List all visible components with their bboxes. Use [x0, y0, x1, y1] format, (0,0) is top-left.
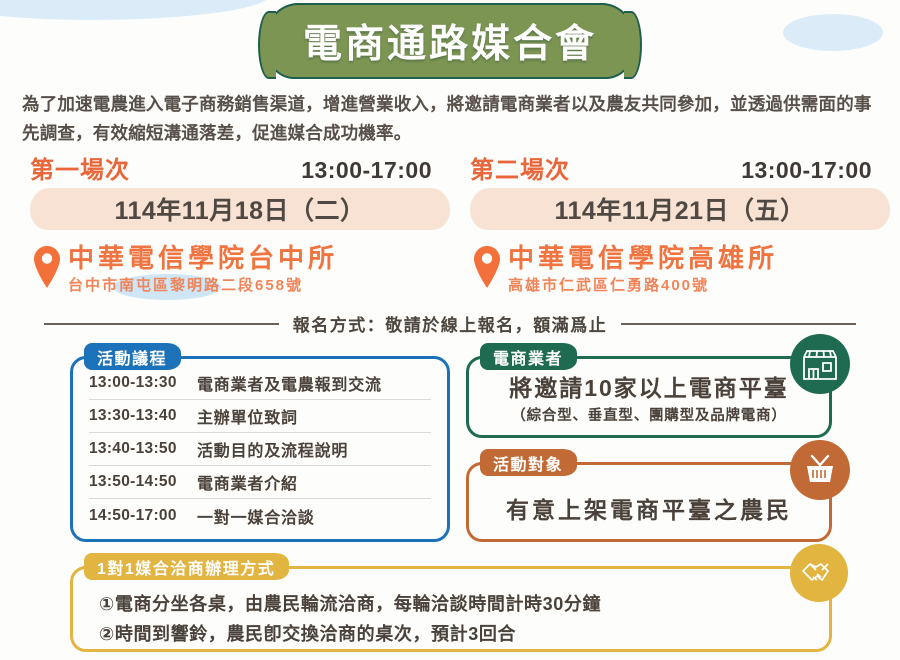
- cloud-decoration-top-left: [0, 0, 270, 20]
- table-row: 13:50-14:50 電商業者介紹: [89, 466, 431, 499]
- signup-divider-row: 報名方式：敬請於線上報名，額滿爲止: [44, 311, 856, 336]
- venue-1-text: 中華電信學院台中所 台中市南屯區黎明路二段658號: [62, 243, 338, 295]
- sellers-card: 將邀請10家以上電商平臺 （綜合型、垂直型、團購型及品牌電商） 電商業者: [466, 356, 832, 438]
- session-block-2: 第二場次 13:00-17:00 114年11月21日（五）: [470, 150, 890, 230]
- venue-block-1: 中華電信學院台中所 台中市南屯區黎明路二段658號: [32, 243, 462, 295]
- table-row: 14:50-17:00 一對一媒合洽談: [89, 499, 431, 532]
- matchmaking-line-2: ②時間到響鈴，農民卽交換洽商的桌次，預計3回合: [99, 619, 829, 649]
- map-pin-icon: [472, 245, 502, 294]
- session-1-label: 第一場次: [30, 150, 130, 185]
- venue-1-name: 中華電信學院台中所: [68, 243, 338, 273]
- audience-card: 有意上架電商平臺之農民 活動對象: [466, 462, 832, 542]
- matchmaking-card: ①電商分坐各桌，由農民輪流洽商，每輪洽談時間計時30分鐘 ②時間到響鈴，農民卽交…: [70, 566, 832, 652]
- agenda-item: 一對一媒合洽談: [197, 504, 315, 528]
- venue-block-2: 中華電信學院高雄所 高雄市仁武區仁勇路400號: [472, 243, 900, 295]
- handshake-icon: [790, 544, 848, 602]
- session-1-header: 第一場次 13:00-17:00: [30, 150, 450, 182]
- storefront-icon: [790, 334, 850, 394]
- session-2-time: 13:00-17:00: [741, 157, 890, 184]
- agenda-item: 主辦單位致詞: [197, 404, 298, 428]
- session-1-date-pill: 114年11月18日（二）: [30, 188, 450, 230]
- venue-2-text: 中華電信學院高雄所 高雄市仁武區仁勇路400號: [502, 243, 778, 295]
- title-banner: 電商通路媒合會: [264, 3, 636, 79]
- session-1-date: 114年11月18日（二）: [114, 191, 365, 227]
- session-2-date: 114年11月21日（五）: [554, 191, 805, 227]
- session-block-1: 第一場次 13:00-17:00 114年11月18日（二）: [30, 150, 450, 230]
- signup-instruction: 報名方式：敬請於線上報名，額滿爲止: [279, 311, 622, 336]
- venue-2-address: 高雄市仁武區仁勇路400號: [508, 276, 778, 295]
- venue-1-address: 台中市南屯區黎明路二段658號: [68, 276, 338, 295]
- sellers-tab-label: 電商業者: [480, 343, 577, 370]
- matchmaking-content: ①電商分坐各桌，由農民輪流洽商，每輪洽談時間計時30分鐘 ②時間到響鈴，農民卽交…: [73, 569, 829, 649]
- agenda-time: 13:40-13:50: [89, 440, 197, 458]
- agenda-time: 13:30-13:40: [89, 407, 197, 425]
- sellers-sub-text: （綜合型、垂直型、團購型及品牌電商）: [481, 404, 817, 425]
- table-row: 13:00-13:30 電商業者及電農報到交流: [89, 367, 431, 400]
- agenda-time: 14:50-17:00: [89, 507, 197, 525]
- session-2-header: 第二場次 13:00-17:00: [470, 150, 890, 182]
- audience-tab-label: 活動對象: [480, 449, 577, 476]
- sellers-main-text: 將邀請10家以上電商平臺: [481, 375, 817, 401]
- divider-line-right: [621, 323, 856, 325]
- cloud-decoration-top-right: [783, 14, 883, 51]
- venue-2-name: 中華電信學院高雄所: [508, 243, 778, 273]
- agenda-item: 電商業者及電農報到交流: [197, 371, 382, 395]
- agenda-card-body: 13:00-13:30 電商業者及電農報到交流 13:30-13:40 主辦單位…: [70, 356, 450, 542]
- session-2-label: 第二場次: [470, 150, 570, 185]
- page-title: 電商通路媒合會: [303, 13, 597, 69]
- agenda-item: 活動目的及流程說明: [197, 437, 348, 461]
- audience-main-text: 有意上架電商平臺之農民: [481, 491, 817, 525]
- session-2-date-pill: 114年11月21日（五）: [470, 188, 890, 230]
- agenda-list: 13:00-13:30 電商業者及電農報到交流 13:30-13:40 主辦單位…: [73, 359, 447, 532]
- agenda-item: 電商業者介紹: [197, 470, 298, 494]
- agenda-time: 13:50-14:50: [89, 473, 197, 491]
- matchmaking-line-1: ①電商分坐各桌，由農民輪流洽商，每輪洽談時間計時30分鐘: [99, 589, 829, 619]
- agenda-card: 13:00-13:30 電商業者及電農報到交流 13:30-13:40 主辦單位…: [70, 356, 450, 542]
- shopping-basket-icon: [790, 440, 850, 500]
- session-1-time: 13:00-17:00: [301, 157, 450, 184]
- map-pin-icon: [32, 245, 62, 294]
- agenda-time: 13:00-13:30: [89, 374, 197, 392]
- divider-line-left: [44, 323, 279, 325]
- matchmaking-tab-label: 1對1媒合洽商辦理方式: [84, 553, 289, 580]
- table-row: 13:40-13:50 活動目的及流程說明: [89, 433, 431, 466]
- intro-paragraph: 為了加速電農進入電子商務銷售渠道，增進營業收入，將邀請電商業者以及農友共同參加，…: [22, 90, 882, 148]
- agenda-tab-label: 活動議程: [84, 343, 181, 370]
- table-row: 13:30-13:40 主辦單位致詞: [89, 400, 431, 433]
